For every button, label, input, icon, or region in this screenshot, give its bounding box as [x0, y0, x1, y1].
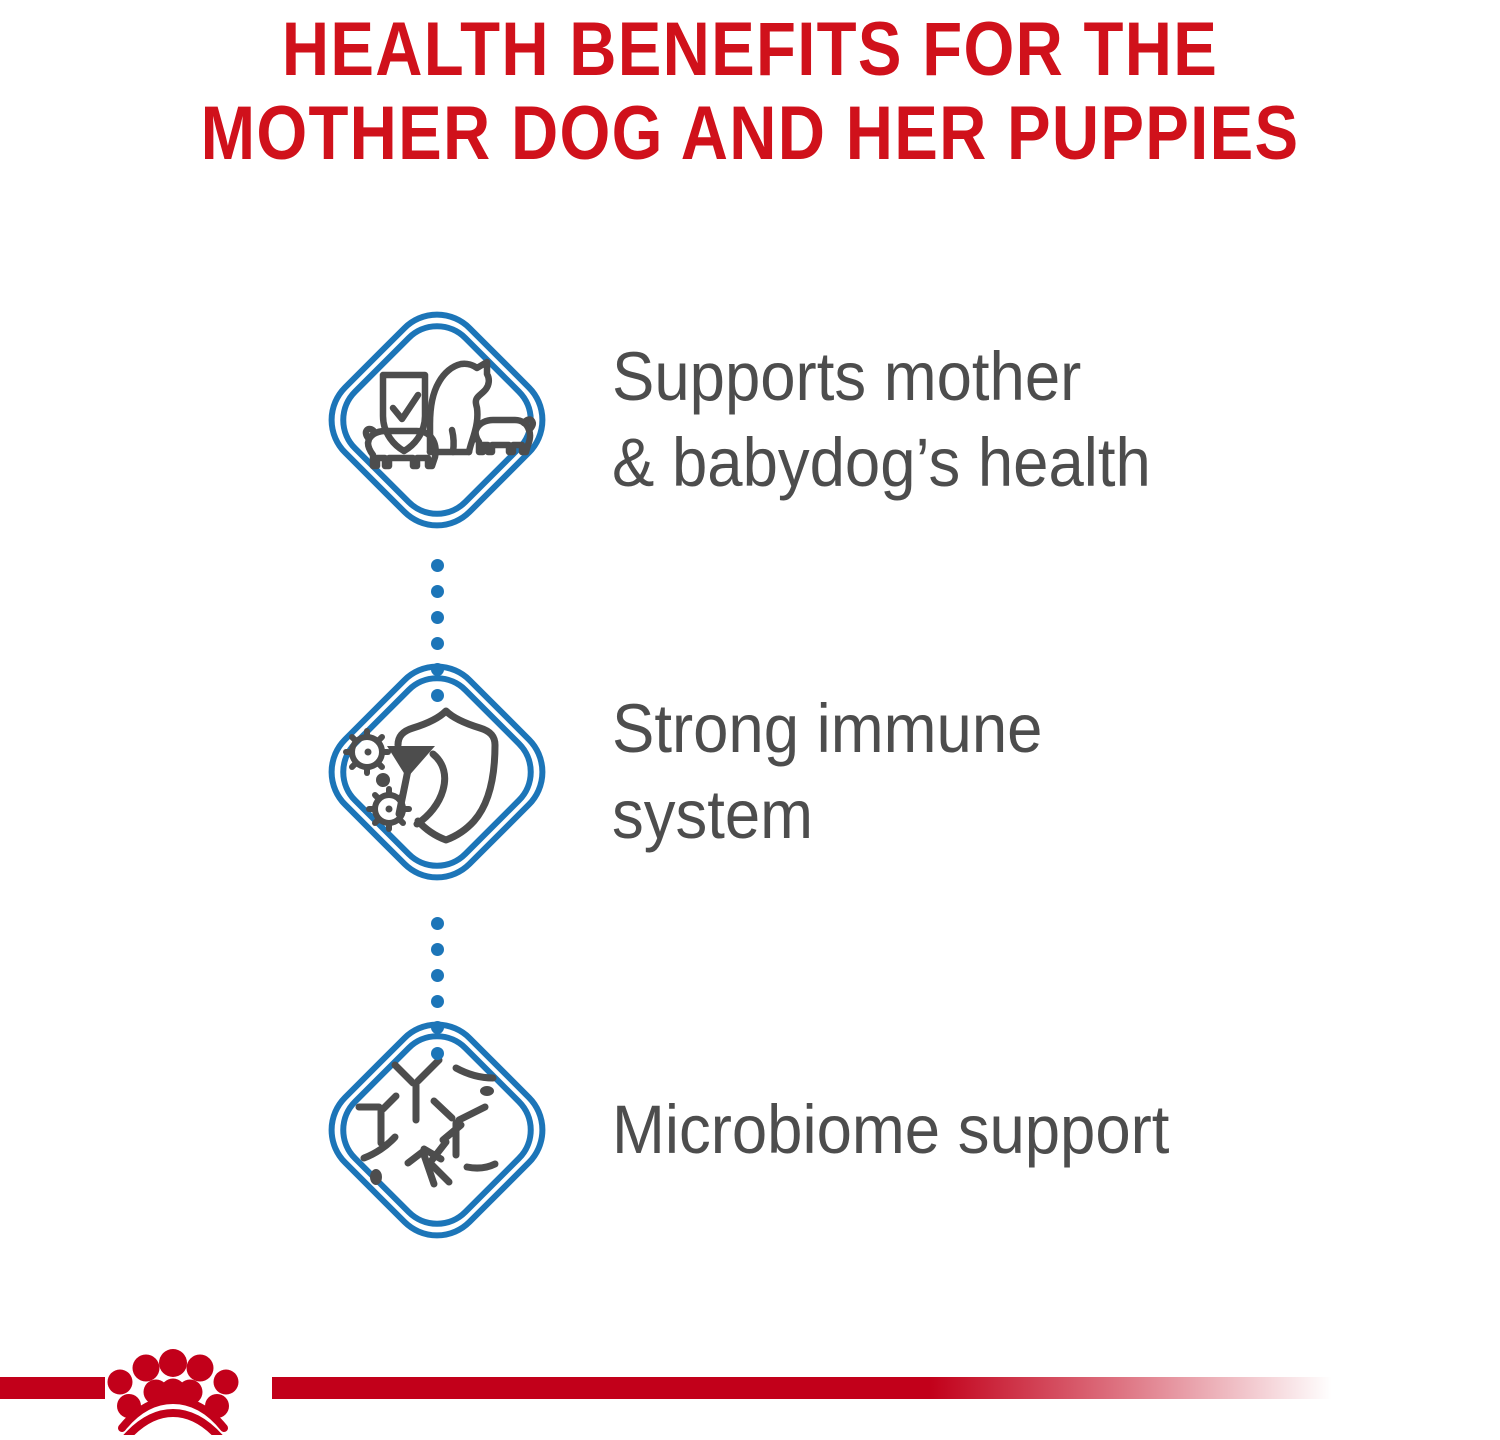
connector-dot — [431, 1047, 444, 1060]
connector-dot — [431, 943, 444, 956]
connector-dot — [431, 995, 444, 1008]
benefit-item-2: Strong immune system — [0, 642, 1500, 902]
benefits-list: Supports mother & babydog’s health — [0, 290, 1500, 1260]
benefit-item-3: Microbiome support — [0, 1000, 1500, 1260]
benefit-label-1: Supports mother & babydog’s health — [612, 334, 1151, 506]
title-line-2: MOTHER DOG AND HER PUPPIES — [105, 92, 1395, 176]
connector-dot — [431, 689, 444, 702]
connector-dot — [431, 1021, 444, 1034]
benefit-item-1: Supports mother & babydog’s health — [0, 290, 1500, 550]
connector-dot — [431, 969, 444, 982]
footer-band-left — [0, 1377, 105, 1399]
footer — [0, 1330, 1500, 1435]
connector-dot — [431, 611, 444, 624]
connector-dot — [431, 917, 444, 930]
dotted-connector-2 — [428, 917, 446, 1060]
royal-canin-crown-logo — [98, 1330, 248, 1435]
benefit-label-2: Strong immune system — [612, 686, 1042, 858]
shield-dog-puppies-icon — [317, 300, 557, 540]
connector-dot — [431, 559, 444, 572]
connector-dot — [431, 585, 444, 598]
connector-dot — [431, 663, 444, 676]
footer-band-right — [272, 1377, 1332, 1399]
dotted-connector-1 — [428, 559, 446, 702]
title-line-1: HEALTH BENEFITS FOR THE — [105, 8, 1395, 92]
page-title: HEALTH BENEFITS FOR THE MOTHER DOG AND H… — [0, 0, 1500, 176]
benefit-label-3: Microbiome support — [612, 1087, 1169, 1173]
connector-dot — [431, 637, 444, 650]
